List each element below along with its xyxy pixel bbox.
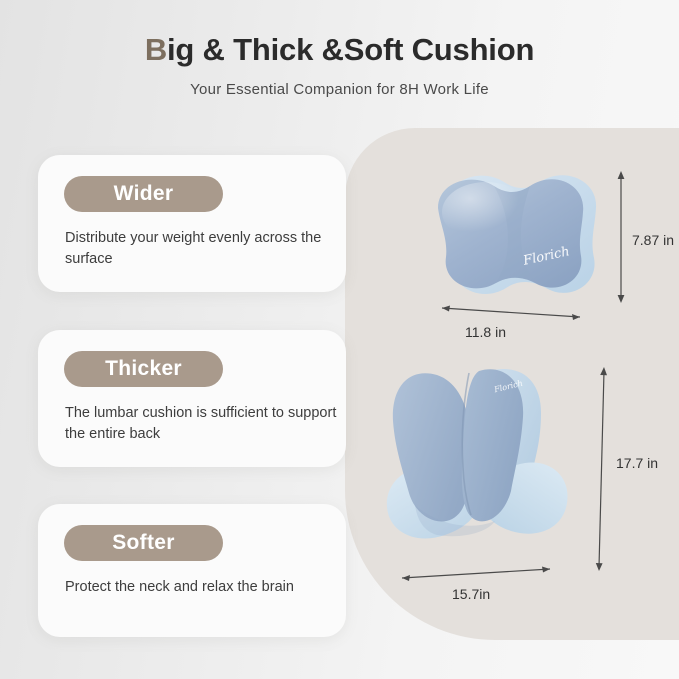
- feature-pill-label: Softer: [112, 531, 174, 555]
- feature-pill-label: Wider: [114, 182, 174, 206]
- page-subtitle: Your Essential Companion for 8H Work Lif…: [0, 81, 679, 98]
- feature-card-softer: Softer Protect the neck and relax the br…: [38, 504, 346, 637]
- neck-pillow-image: [424, 160, 614, 310]
- title-initial-letter: B: [145, 32, 167, 67]
- feature-description-thicker: The lumbar cushion is sufficient to supp…: [65, 403, 340, 444]
- feature-card-thicker: Thicker The lumbar cushion is sufficient…: [38, 330, 346, 467]
- feature-card-wider: Wider Distribute your weight evenly acro…: [38, 155, 346, 292]
- dimension-arrow-neck-height: [615, 170, 627, 304]
- dimension-label-neck-width: 11.8 in: [465, 324, 506, 340]
- header: Big & Thick &Soft Cushion Your Essential…: [0, 32, 679, 98]
- feature-pill-softer: Softer: [64, 525, 223, 561]
- dimension-arrow-lumbar-width: [396, 566, 556, 582]
- feature-pill-label: Thicker: [105, 357, 182, 381]
- page-title: Big & Thick &Soft Cushion: [0, 32, 679, 68]
- dimension-arrow-lumbar-height: [595, 366, 609, 572]
- lumbar-cushion-image: [375, 355, 595, 590]
- dimension-label-lumbar-width: 15.7in: [452, 586, 490, 602]
- feature-description-softer: Protect the neck and relax the brain: [65, 577, 340, 598]
- dimension-label-lumbar-height: 17.7 in: [616, 455, 658, 471]
- feature-description-wider: Distribute your weight evenly across the…: [65, 228, 340, 269]
- dimension-label-neck-height: 7.87 in: [632, 232, 674, 248]
- feature-pill-thicker: Thicker: [64, 351, 223, 387]
- dimension-arrow-neck-width: [436, 305, 586, 321]
- feature-pill-wider: Wider: [64, 176, 223, 212]
- title-remainder: ig & Thick &Soft Cushion: [167, 32, 534, 67]
